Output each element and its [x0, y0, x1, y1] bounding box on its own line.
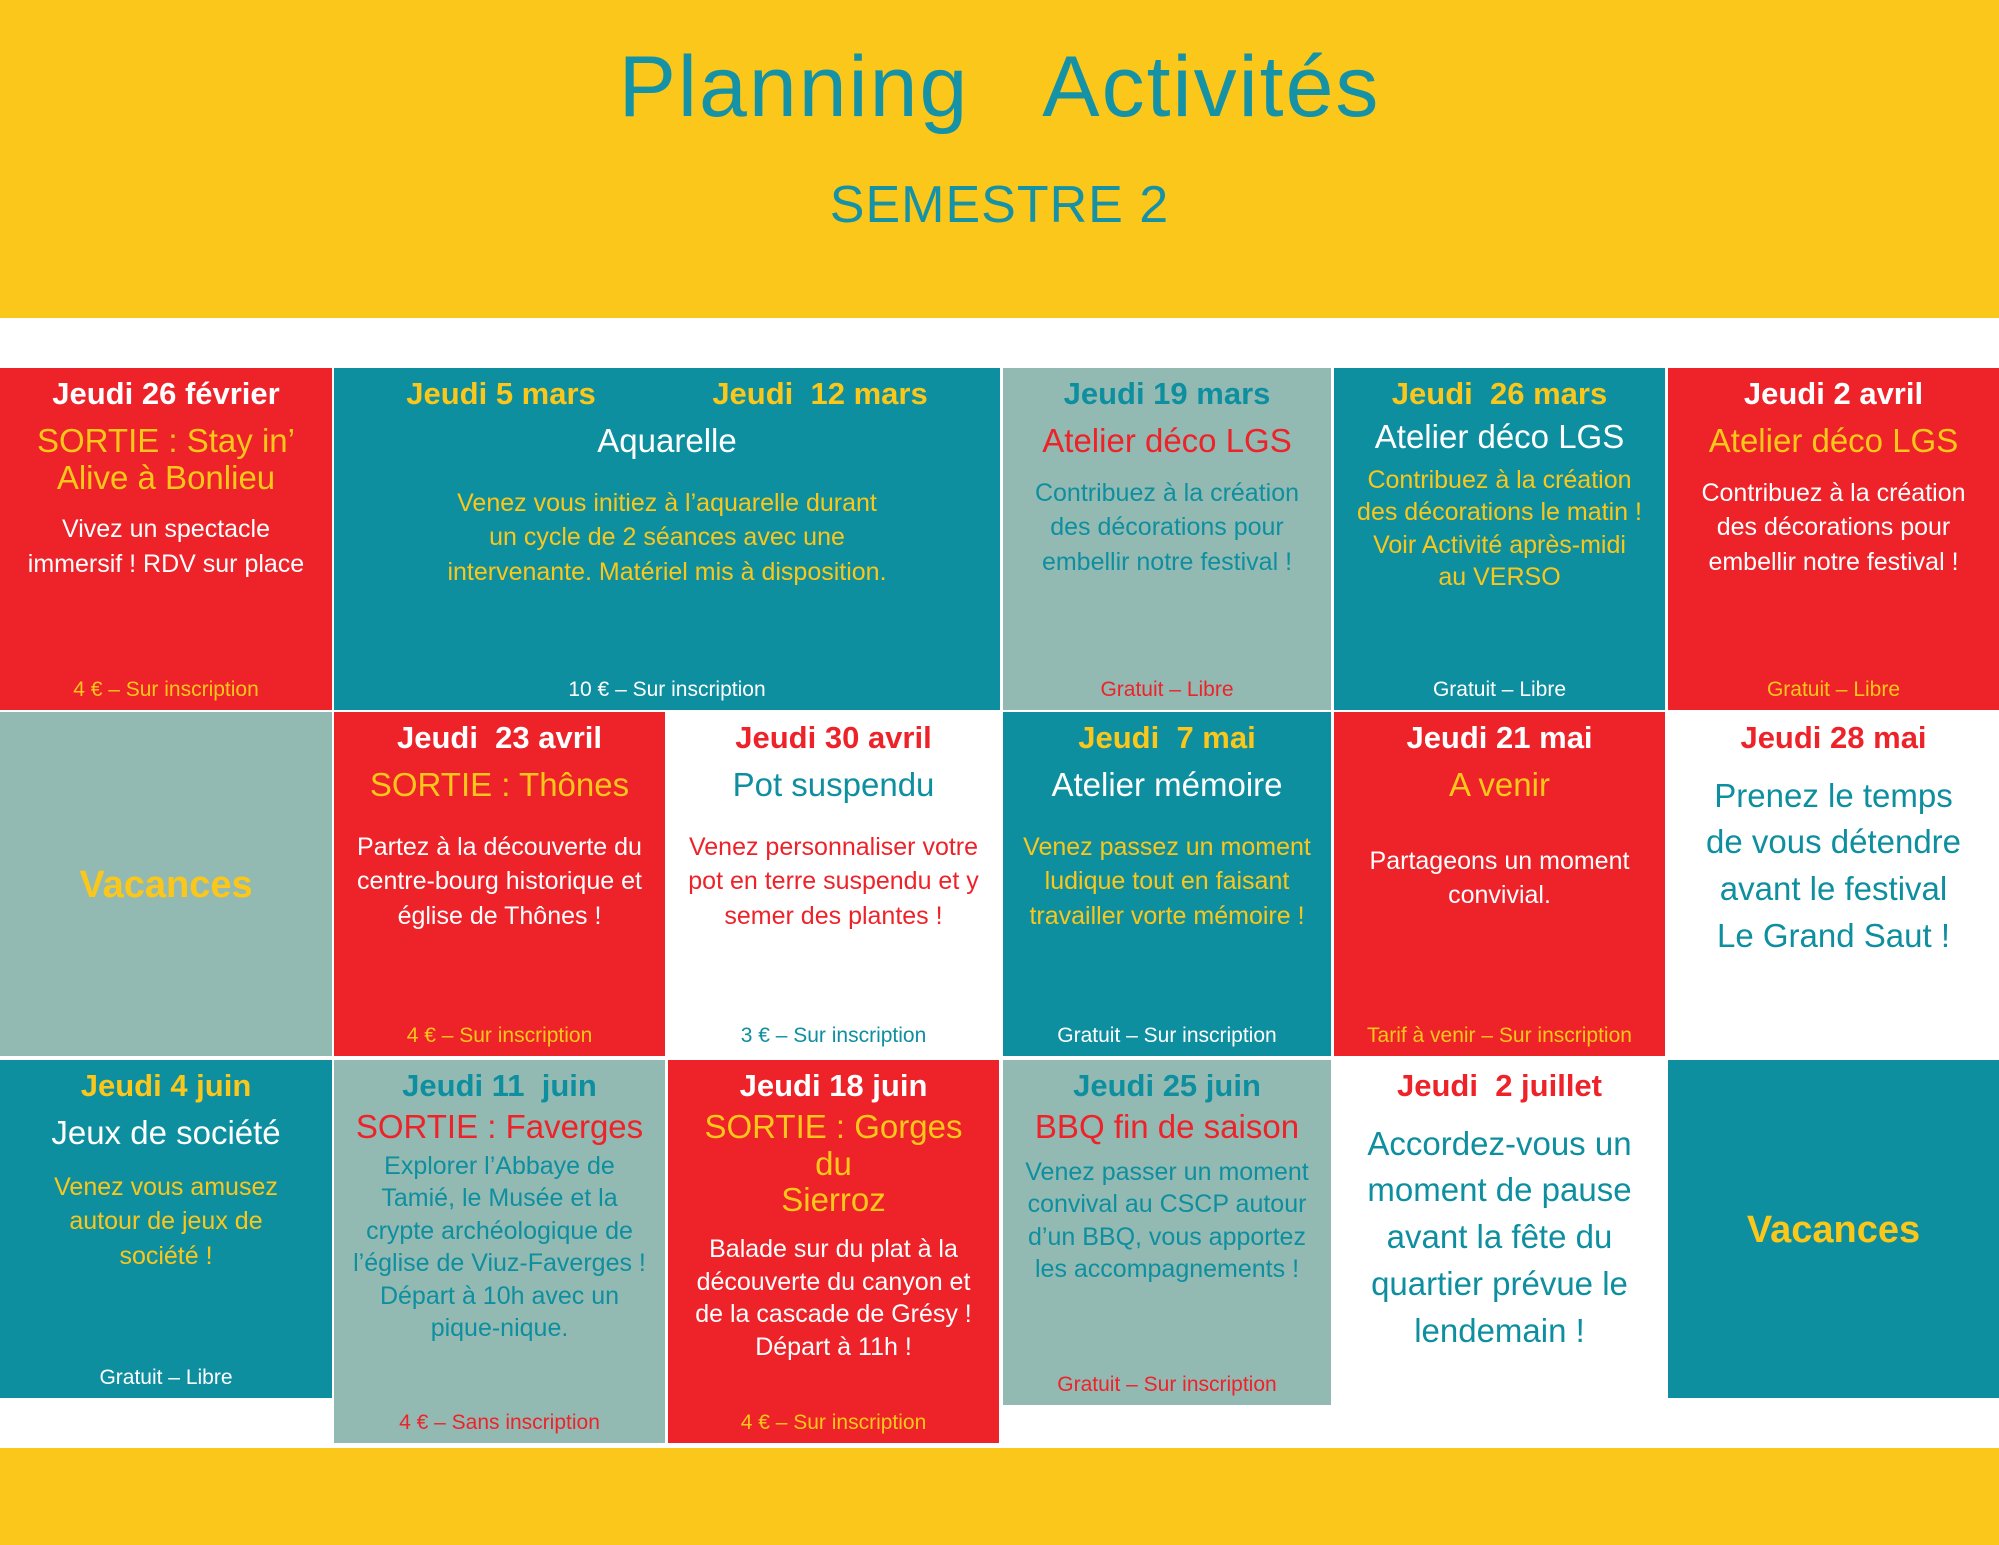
cell-activity: Atelier déco LGS	[1348, 419, 1651, 456]
activity-cell-18-juin[interactable]: Jeudi 18 juin SORTIE : Gorges du Sierroz…	[668, 1060, 999, 1443]
planning-poster: Planning Activités SEMESTRE 2 Jeudi 26 f…	[0, 0, 1999, 1545]
cell-activity: SORTIE : Thônes	[348, 767, 651, 804]
cell-price: Gratuit – Libre	[1017, 677, 1317, 702]
activity-cell-26-mars[interactable]: Jeudi 26 mars Atelier déco LGS Contribue…	[1334, 368, 1665, 710]
vacances-label: Vacances	[1682, 1209, 1985, 1252]
cell-description: Partez à la découverte du centre-bourg h…	[348, 830, 651, 1013]
cell-description: Accordez-vous un moment de pause avant l…	[1348, 1121, 1651, 1435]
cell-date: Jeudi 26 mars	[1348, 378, 1651, 411]
page-subtitle: SEMESTRE 2	[0, 175, 1999, 235]
cell-date: Jeudi 2 juillet	[1348, 1070, 1651, 1103]
cell-description: Partageons un moment convivial.	[1348, 844, 1651, 1013]
activity-cell-30-avril[interactable]: Jeudi 30 avril Pot suspendu Venez person…	[668, 712, 999, 1056]
cell-description: Venez vous initiez à l’aquarelle durant …	[348, 486, 986, 667]
cell-date: Jeudi 25 juin	[1017, 1070, 1317, 1103]
cell-price: Gratuit – Sur inscription	[1017, 1372, 1317, 1397]
cell-activity: A venir	[1348, 767, 1651, 804]
cell-description: Contribuez à la création des décorations…	[1682, 476, 1985, 667]
cell-activity: SORTIE : Gorges du Sierroz	[682, 1109, 985, 1220]
footer-band	[0, 1448, 1999, 1545]
poster-header: Planning Activités SEMESTRE 2	[0, 0, 1999, 318]
cell-dates-row: Jeudi 5 mars Jeudi 12 mars	[348, 378, 986, 411]
cell-price: Gratuit – Sur inscription	[1017, 1023, 1317, 1048]
cell-description: Explorer l’Abbaye de Tamié, le Musée et …	[348, 1150, 651, 1406]
cell-date: Jeudi 11 juin	[348, 1070, 651, 1103]
cell-date: Jeudi 19 mars	[1017, 378, 1317, 411]
cell-date-a: Jeudi 5 mars	[406, 378, 596, 411]
activity-cell-2-juillet[interactable]: Jeudi 2 juillet Accordez-vous un moment …	[1334, 1060, 1665, 1443]
cell-description: Prenez le temps de vous détendre avant l…	[1682, 773, 1985, 1048]
cell-date: Jeudi 23 avril	[348, 722, 651, 755]
cell-activity: Atelier mémoire	[1017, 767, 1317, 804]
cell-date: Jeudi 4 juin	[14, 1070, 318, 1103]
cell-price: Gratuit – Libre	[1682, 677, 1985, 702]
activity-cell-11-juin[interactable]: Jeudi 11 juin SORTIE : Faverges Explorer…	[334, 1060, 665, 1443]
cell-date-b: Jeudi 12 mars	[712, 378, 927, 411]
activity-cell-2-avril[interactable]: Jeudi 2 avril Atelier déco LGS Contribue…	[1668, 368, 1999, 710]
cell-activity: SORTIE : Faverges	[348, 1109, 651, 1146]
cell-date: Jeudi 18 juin	[682, 1070, 985, 1103]
cell-activity: Atelier déco LGS	[1682, 423, 1985, 460]
cell-price: Gratuit – Libre	[1348, 677, 1651, 702]
cell-description: Venez vous amusez autour de jeux de soci…	[14, 1170, 318, 1355]
cell-description: Balade sur du plat à la découverte du ca…	[682, 1233, 985, 1403]
cell-price: 4 € – Sur inscription	[348, 1023, 651, 1048]
activity-cell-5-et-12-mars[interactable]: Jeudi 5 mars Jeudi 12 mars Aquarelle Ven…	[334, 368, 1000, 710]
vacances-cell-printemps: Vacances	[0, 712, 332, 1056]
cell-description: Venez personnaliser votre pot en terre s…	[682, 830, 985, 1013]
cell-price: 10 € – Sur inscription	[348, 677, 986, 702]
activity-cell-21-mai[interactable]: Jeudi 21 mai A venir Partageons un momen…	[1334, 712, 1665, 1056]
vacances-label: Vacances	[14, 864, 318, 907]
cell-date: Jeudi 30 avril	[682, 722, 985, 755]
activity-cell-26-fevrier[interactable]: Jeudi 26 février SORTIE : Stay in’ Alive…	[0, 368, 332, 710]
cell-price: 3 € – Sur inscription	[682, 1023, 985, 1048]
cell-description: Contribuez à la création des décorations…	[1017, 476, 1317, 667]
cell-price: 4 € – Sur inscription	[14, 677, 318, 702]
cell-description: Venez passer un moment convival au CSCP …	[1017, 1156, 1317, 1362]
activity-cell-4-juin[interactable]: Jeudi 4 juin Jeux de société Venez vous …	[0, 1060, 332, 1398]
cell-activity: Pot suspendu	[682, 767, 985, 804]
cell-date: Jeudi 7 mai	[1017, 722, 1317, 755]
cell-price: Tarif à venir – Sur inscription	[1348, 1023, 1651, 1048]
cell-activity: SORTIE : Stay in’ Alive à Bonlieu	[14, 423, 318, 497]
cell-date: Jeudi 26 février	[14, 378, 318, 411]
cell-activity: Jeux de société	[14, 1115, 318, 1152]
cell-date: Jeudi 2 avril	[1682, 378, 1985, 411]
activity-cell-23-avril[interactable]: Jeudi 23 avril SORTIE : Thônes Partez à …	[334, 712, 665, 1056]
activity-cell-25-juin[interactable]: Jeudi 25 juin BBQ fin de saison Venez pa…	[1003, 1060, 1331, 1405]
cell-description: Venez passez un moment ludique tout en f…	[1017, 830, 1317, 1013]
cell-description: Vivez un spectacle immersif ! RDV sur pl…	[14, 512, 318, 666]
page-title: Planning Activités	[0, 38, 1999, 137]
activity-cell-19-mars[interactable]: Jeudi 19 mars Atelier déco LGS Contribue…	[1003, 368, 1331, 710]
cell-activity: BBQ fin de saison	[1017, 1109, 1317, 1146]
cell-description: Contribuez à la création des décorations…	[1348, 464, 1651, 667]
cell-date: Jeudi 21 mai	[1348, 722, 1651, 755]
vacances-cell-ete: Vacances	[1668, 1060, 1999, 1398]
cell-activity: Atelier déco LGS	[1017, 423, 1317, 460]
activity-cell-28-mai[interactable]: Jeudi 28 mai Prenez le temps de vous dét…	[1668, 712, 1999, 1056]
cell-date: Jeudi 28 mai	[1682, 722, 1985, 755]
cell-price: Gratuit – Libre	[14, 1365, 318, 1390]
cell-activity: Aquarelle	[348, 423, 986, 460]
cell-price: 4 € – Sur inscription	[682, 1410, 985, 1435]
cell-price: 4 € – Sans inscription	[348, 1410, 651, 1435]
activity-cell-7-mai[interactable]: Jeudi 7 mai Atelier mémoire Venez passez…	[1003, 712, 1331, 1056]
